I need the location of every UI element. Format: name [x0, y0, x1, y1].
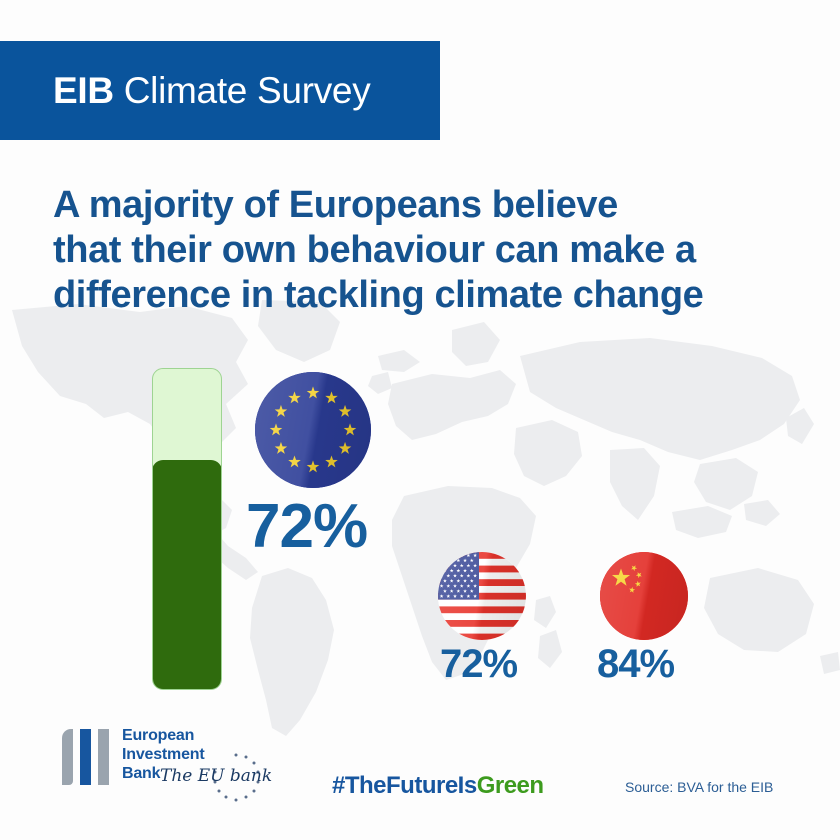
hashtag-green-part: Green [477, 772, 544, 799]
hashtag-blue-part: #TheFutureIs [332, 772, 477, 799]
logo-line-2: Investment [122, 745, 204, 764]
logo-bar-right [98, 729, 109, 785]
gauge-bar-fill [152, 460, 222, 690]
campaign-hashtag: #TheFutureIsGreen [332, 772, 544, 800]
logo-bar-left [62, 729, 73, 785]
gauge-bar-track [152, 368, 222, 690]
us-flag-icon [438, 552, 526, 640]
headline-line-3: difference in tackling climate change [53, 273, 793, 318]
infographic-canvas: EIB Climate Survey A majority of Europea… [0, 0, 840, 840]
eu-percentage-label: 72% [246, 491, 367, 562]
headline-line-1: A majority of Europeans believe [53, 183, 793, 228]
cn-flag-icon [600, 552, 688, 640]
logo-line-1: European [122, 726, 204, 745]
eu-flag-icon [255, 372, 371, 488]
page-title: EIB Climate Survey [53, 70, 370, 112]
eib-logo-bars [62, 729, 109, 785]
world-map-background [0, 300, 840, 740]
cn-percentage-label: 84% [597, 642, 674, 687]
header-banner: EIB Climate Survey [0, 41, 440, 140]
source-attribution: Source: BVA for the EIB [625, 779, 773, 795]
us-percentage-label: 72% [440, 642, 517, 687]
headline: A majority of Europeans believe that the… [53, 183, 793, 318]
eib-tagline: The EU bank [160, 766, 272, 786]
header-title-bold: EIB [53, 70, 114, 111]
logo-bar-middle [80, 729, 91, 785]
header-title-light: Climate Survey [114, 70, 371, 111]
headline-line-2: that their own behaviour can make a [53, 228, 793, 273]
